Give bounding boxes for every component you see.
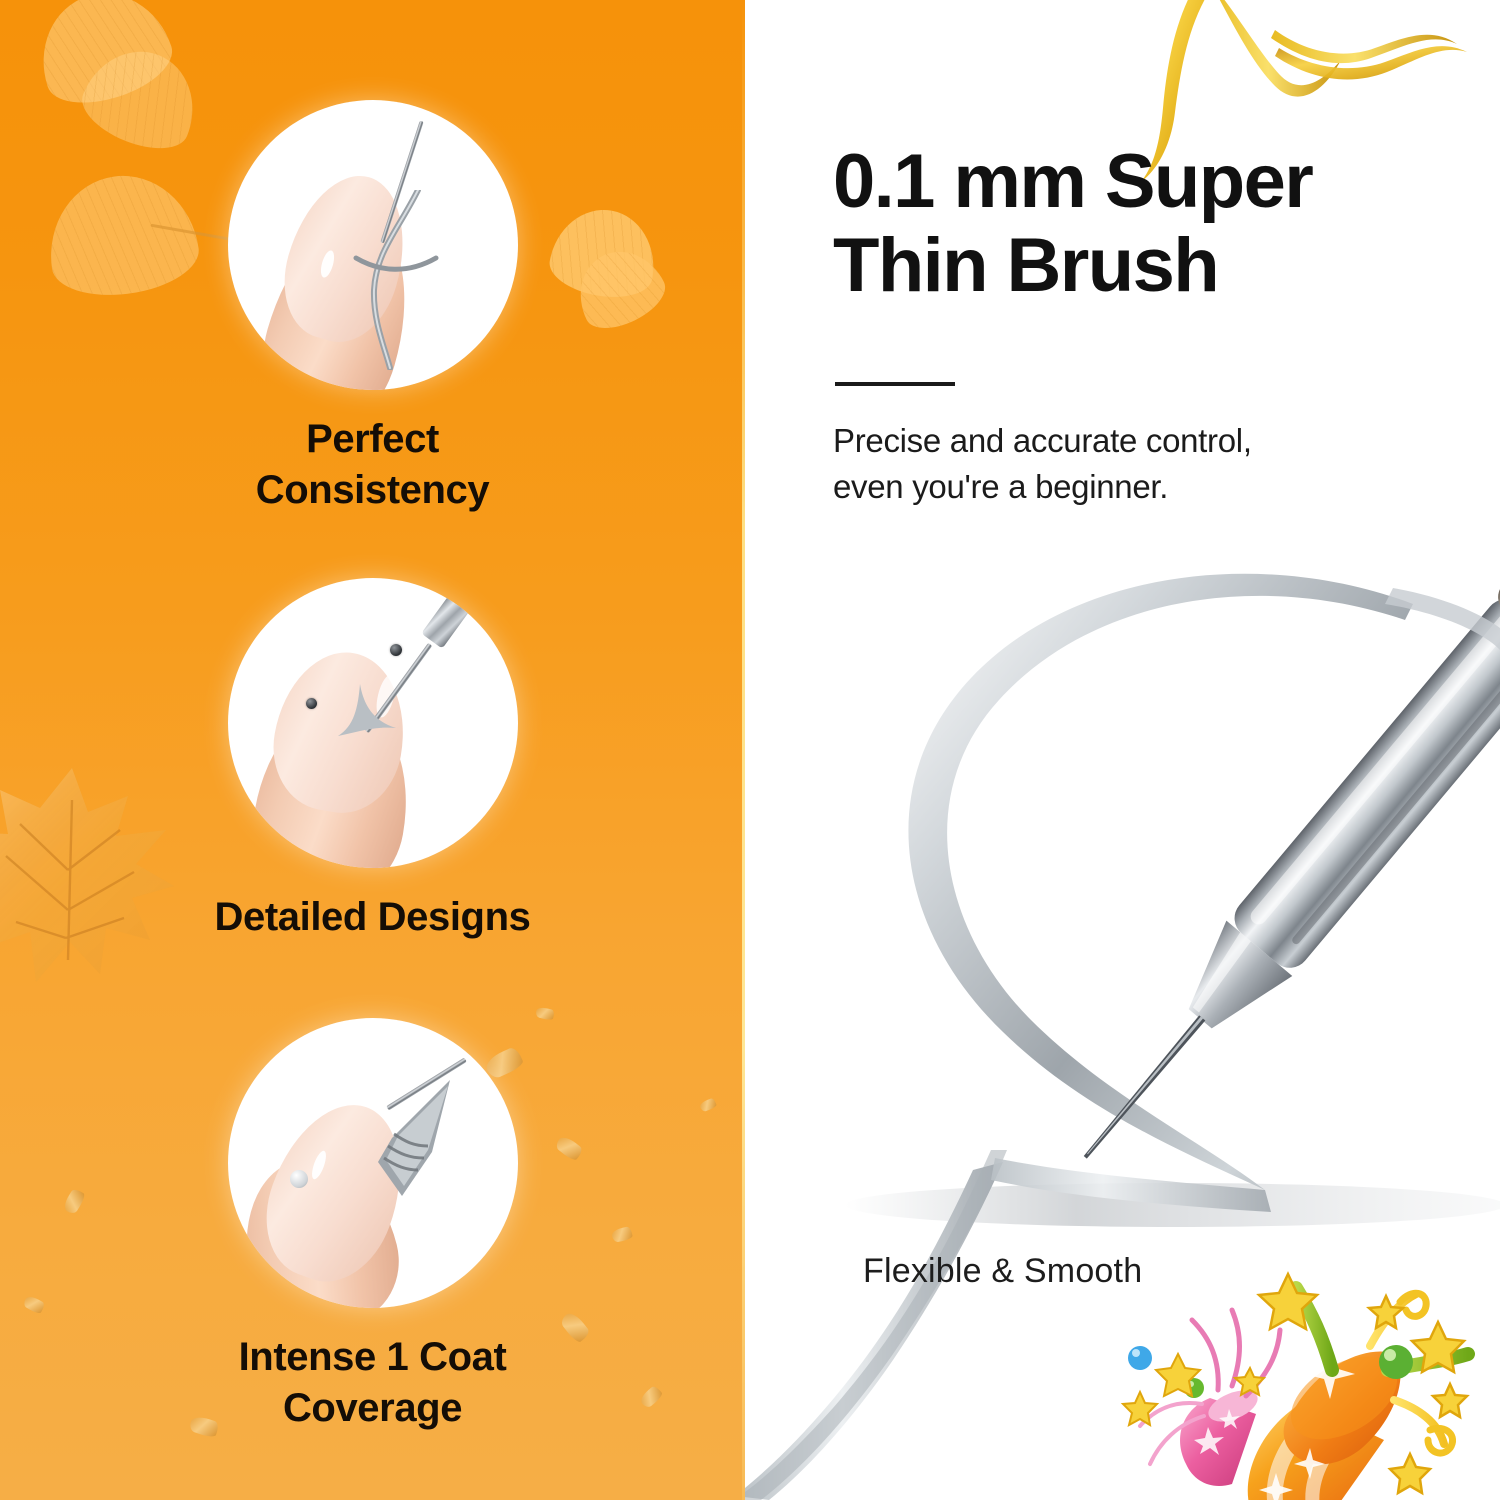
rhinestone xyxy=(390,644,402,656)
feature-label: Intense 1 Coat Coverage xyxy=(0,1332,745,1434)
feature-block: Detailed Designs xyxy=(0,578,745,943)
feature-block: Perfect Consistency xyxy=(0,100,745,516)
page-title: 0.1 mm Super Thin Brush xyxy=(833,140,1473,307)
rhinestone xyxy=(290,1170,308,1188)
feature-photo-perfect-consistency xyxy=(228,100,518,390)
product-feature-banner: Perfect Consistency Detailed Designs xyxy=(0,0,1500,1500)
feature-label: Detailed Designs xyxy=(0,892,745,943)
left-feature-panel: Perfect Consistency Detailed Designs xyxy=(0,0,745,1500)
feature-photo-detailed-designs xyxy=(228,578,518,868)
feature-block: Intense 1 Coat Coverage xyxy=(0,1018,745,1434)
party-popper-icon xyxy=(1100,1258,1500,1500)
feature-label: Perfect Consistency xyxy=(0,414,745,516)
feature-photo-intense-coverage xyxy=(228,1018,518,1308)
rhinestone xyxy=(306,698,317,709)
product-caption: Flexible & Smooth xyxy=(863,1252,1142,1291)
right-product-panel: 0.1 mm Super Thin Brush Precise and accu… xyxy=(745,0,1500,1500)
